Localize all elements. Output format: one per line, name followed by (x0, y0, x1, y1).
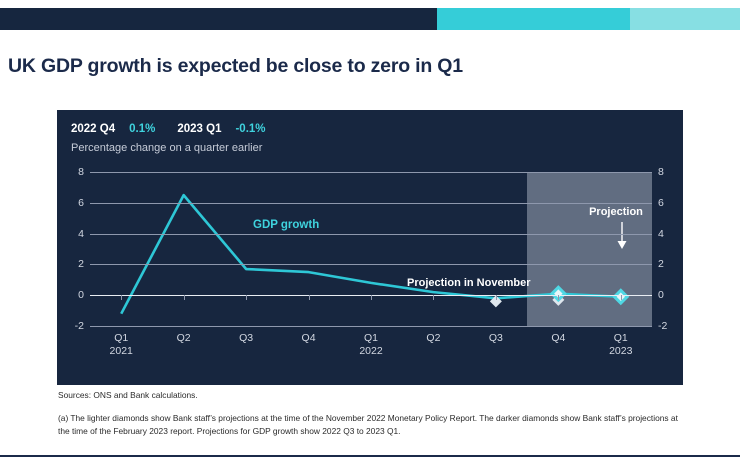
kpi-row: 2022 Q40.1%2023 Q1-0.1% (71, 123, 266, 135)
gridline-6 (90, 203, 652, 204)
x-axis-year: 2021 (93, 345, 149, 358)
y-axis-tick-left-0: 0 (60, 290, 84, 300)
gridline--2 (90, 326, 652, 327)
x-axis-tick-2: Q3 (218, 332, 274, 345)
color-bar-segment-teal (437, 8, 630, 30)
x-axis-tick-5: Q2 (405, 332, 461, 345)
x-axis-year: 2023 (593, 345, 649, 358)
y-axis-tick-left--2: -2 (60, 321, 84, 331)
x-axis-quarter: Q2 (426, 332, 440, 344)
bottom-divider (0, 455, 740, 457)
kpi-label-2022q4: 2022 Q4 (71, 123, 115, 135)
y-axis-tick-right-2: 2 (658, 259, 682, 269)
y-axis-tick-left-8: 8 (60, 167, 84, 177)
x-axis-quarter: Q4 (302, 332, 316, 344)
x-axis-tickmark-3 (309, 295, 310, 300)
y-axis-tick-right-8: 8 (658, 167, 682, 177)
projection-arrow-icon (615, 222, 629, 252)
plot-area: GDP growth Projection in November Projec… (90, 172, 652, 326)
x-axis-quarter: Q2 (177, 332, 191, 344)
gridline-2 (90, 264, 652, 265)
sources-text: Sources: ONS and Bank calculations. (58, 390, 198, 400)
x-axis-tickmark-6 (496, 295, 497, 300)
chart-panel: 2022 Q40.1%2023 Q1-0.1% Percentage chang… (57, 110, 683, 385)
x-axis-tick-1: Q2 (156, 332, 212, 345)
kpi-value-2022q4: 0.1% (129, 123, 155, 135)
x-axis-tickmark-0 (121, 295, 122, 300)
x-axis-tickmark-7 (558, 295, 559, 300)
color-bar-segment-dark (0, 8, 437, 30)
y-axis-tick-left-6: 6 (60, 198, 84, 208)
x-axis-tickmark-1 (184, 295, 185, 300)
y-axis-tick-right-6: 6 (658, 198, 682, 208)
y-axis-tick-right-4: 4 (658, 229, 682, 239)
page-title: UK GDP growth is expected be close to ze… (8, 55, 708, 78)
x-axis-tick-6: Q3 (468, 332, 524, 345)
x-axis-quarter: Q3 (489, 332, 503, 344)
y-axis-tick-left-4: 4 (60, 229, 84, 239)
x-axis-quarter: Q4 (551, 332, 565, 344)
x-axis-tickmark-4 (371, 295, 372, 300)
y-axis-tick-left-2: 2 (60, 259, 84, 269)
x-axis-tick-7: Q4 (530, 332, 586, 345)
x-axis-tickmark-8 (621, 295, 622, 300)
annotation-gdp-growth: GDP growth (253, 219, 319, 231)
gdp-growth-line-series (90, 172, 652, 326)
annotation-projection-in-november: Projection in November (407, 277, 530, 289)
y-axis-tick-right--2: -2 (658, 321, 682, 331)
y-axis-tick-right-0: 0 (658, 290, 682, 300)
kpi-label-2023q1: 2023 Q1 (177, 123, 221, 135)
gridline-8 (90, 172, 652, 173)
kpi-value-2023q1: -0.1% (235, 123, 265, 135)
color-bar-segment-light-teal (630, 8, 740, 30)
chart-subtitle: Percentage change on a quarter earlier (71, 142, 262, 154)
footnote-text: (a) The lighter diamonds show Bank staff… (58, 412, 683, 438)
x-axis-quarter: Q3 (239, 332, 253, 344)
brand-color-bar (0, 8, 740, 30)
x-axis-quarter: Q1 (614, 332, 628, 344)
x-axis-quarter: Q1 (114, 332, 128, 344)
x-axis-tick-0: Q12021 (93, 332, 149, 358)
gridline-4 (90, 234, 652, 235)
x-axis-quarter: Q1 (364, 332, 378, 344)
x-axis-tick-4: Q12022 (343, 332, 399, 358)
x-axis-tick-8: Q12023 (593, 332, 649, 358)
x-axis-tickmark-5 (433, 295, 434, 300)
x-axis-year: 2022 (343, 345, 399, 358)
x-axis-tickmark-2 (246, 295, 247, 300)
x-axis-tick-3: Q4 (281, 332, 337, 345)
